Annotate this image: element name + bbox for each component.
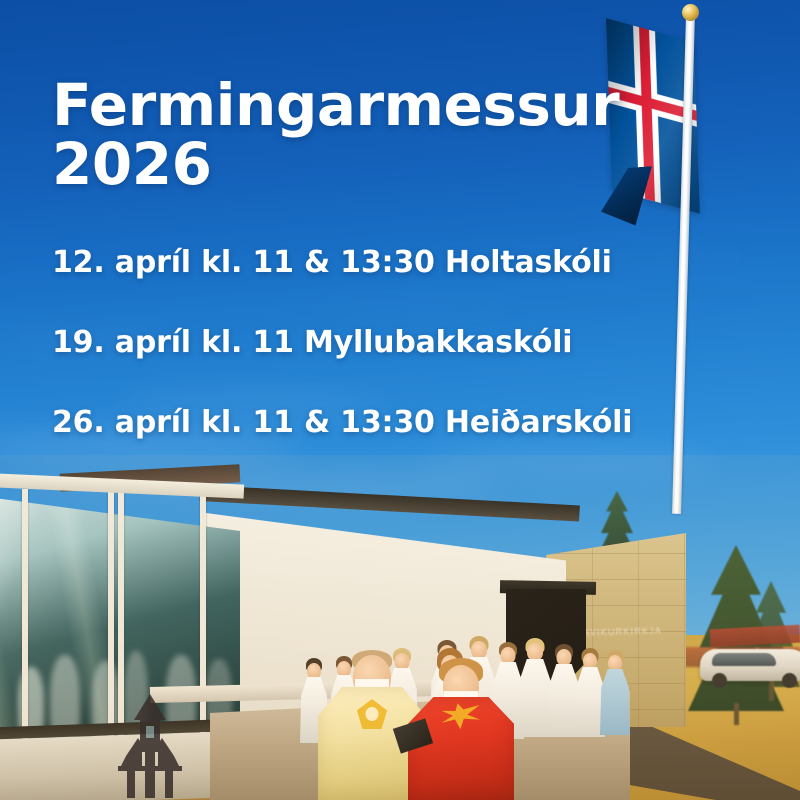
schedule-item-2: 19. apríl kl. 11 Myllubakkaskóli [52,328,772,358]
confirmand [600,653,630,735]
schedule-item-3: 26. apríl kl. 11 & 13:30 Heiðarskóli [52,408,772,438]
page-title: Fermingarmessur 2026 [52,76,752,194]
event-poster: KEFLAVIKURKIRKJA [0,0,800,800]
confirmand [518,641,552,737]
poster-copy: Fermingarmessur 2026 12. apríl kl. 11 & … [0,0,800,470]
schedule-list: 12. apríl kl. 11 & 13:30 Holtaskóli 19. … [52,248,772,488]
church-steeple-logo [112,694,188,798]
schedule-item-1: 12. apríl kl. 11 & 13:30 Holtaskóli [52,248,772,278]
